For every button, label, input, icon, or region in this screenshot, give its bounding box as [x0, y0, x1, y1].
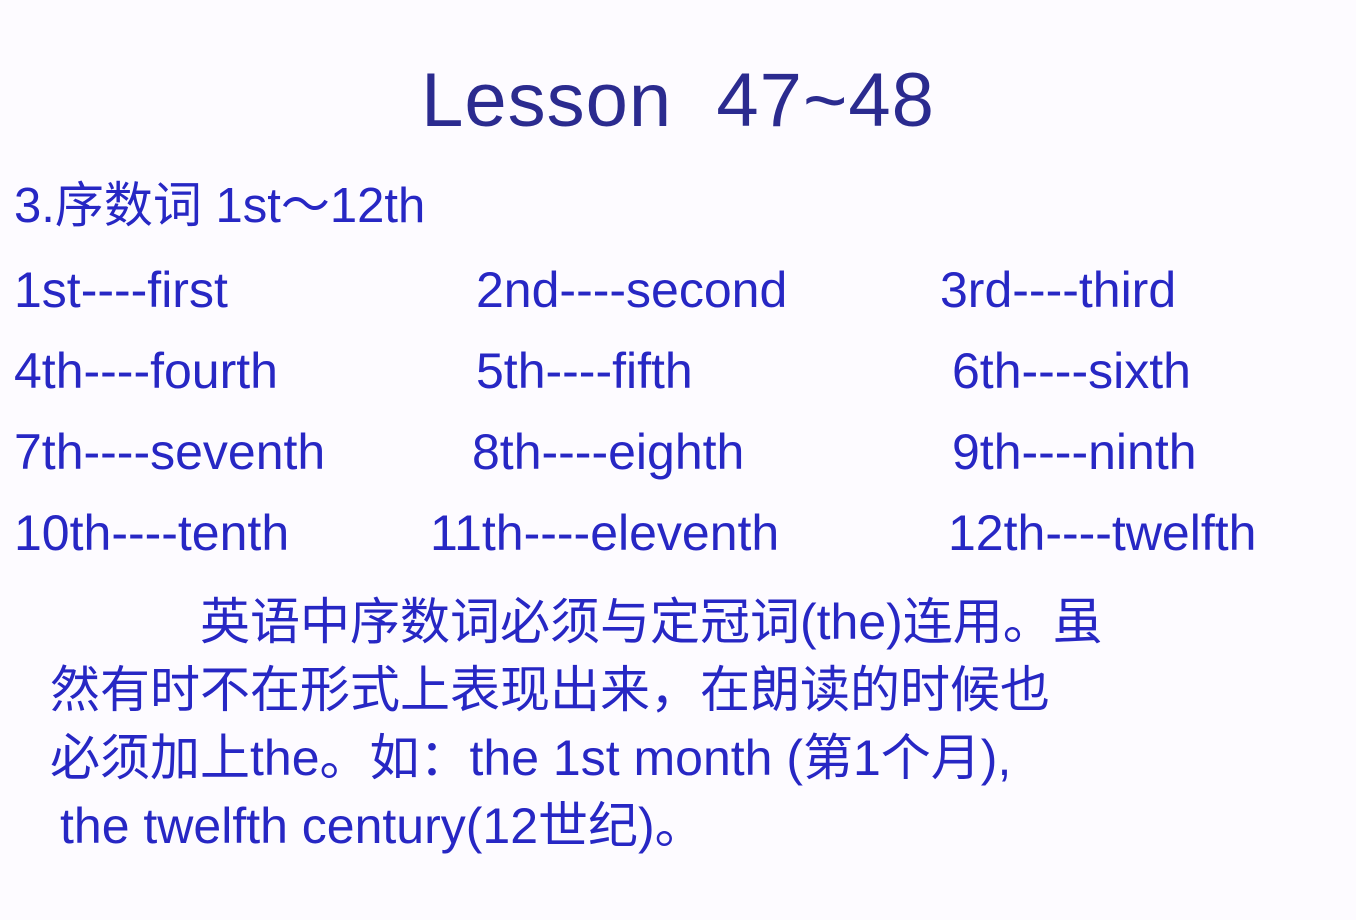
section-heading-ordinal-numbers: 3.序数词 1st～12th — [14, 180, 425, 233]
ordinal-item-8th: 8th----eighth — [472, 424, 744, 480]
explanation-line: 必须加上the。如：the 1st month (第1个月), — [50, 724, 1350, 792]
ordinal-item-2nd: 2nd----second — [476, 262, 787, 318]
explanation-line: the twelfth century(12世纪)。 — [50, 792, 1350, 860]
ordinal-item-6th: 6th----sixth — [952, 343, 1191, 399]
ordinal-row: 1st----first 2nd----second 3rd----third — [0, 262, 1356, 343]
ordinal-row: 7th----seventh 8th----eighth 9th----nint… — [0, 424, 1356, 505]
ordinal-item-5th: 5th----fifth — [476, 343, 693, 399]
ordinal-item-12th: 12th----twelfth — [948, 505, 1256, 561]
ordinal-row: 4th----fourth 5th----fifth 6th----sixth — [0, 343, 1356, 424]
ordinal-item-4th: 4th----fourth — [14, 343, 278, 399]
slide-canvas: Lesson 47~48 3.序数词 1st～12th 1st----first… — [0, 0, 1356, 920]
ordinal-item-1st: 1st----first — [14, 262, 228, 318]
ordinal-item-9th: 9th----ninth — [952, 424, 1197, 480]
ordinal-item-7th: 7th----seventh — [14, 424, 325, 480]
ordinal-item-10th: 10th----tenth — [14, 505, 289, 561]
explanation-paragraph: 英语中序数词必须与定冠词(the)连用。虽 然有时不在形式上表现出来，在朗读的时… — [50, 588, 1350, 860]
ordinal-item-11th: 11th----eleventh — [430, 505, 779, 561]
explanation-line: 英语中序数词必须与定冠词(the)连用。虽 — [50, 588, 1350, 656]
explanation-line: 然有时不在形式上表现出来，在朗读的时候也 — [50, 656, 1350, 724]
ordinal-list: 1st----first 2nd----second 3rd----third … — [0, 262, 1356, 586]
page-title: Lesson 47~48 — [0, 59, 1356, 143]
ordinal-row: 10th----tenth 11th----eleventh 12th----t… — [0, 505, 1356, 586]
ordinal-item-3rd: 3rd----third — [940, 262, 1176, 318]
